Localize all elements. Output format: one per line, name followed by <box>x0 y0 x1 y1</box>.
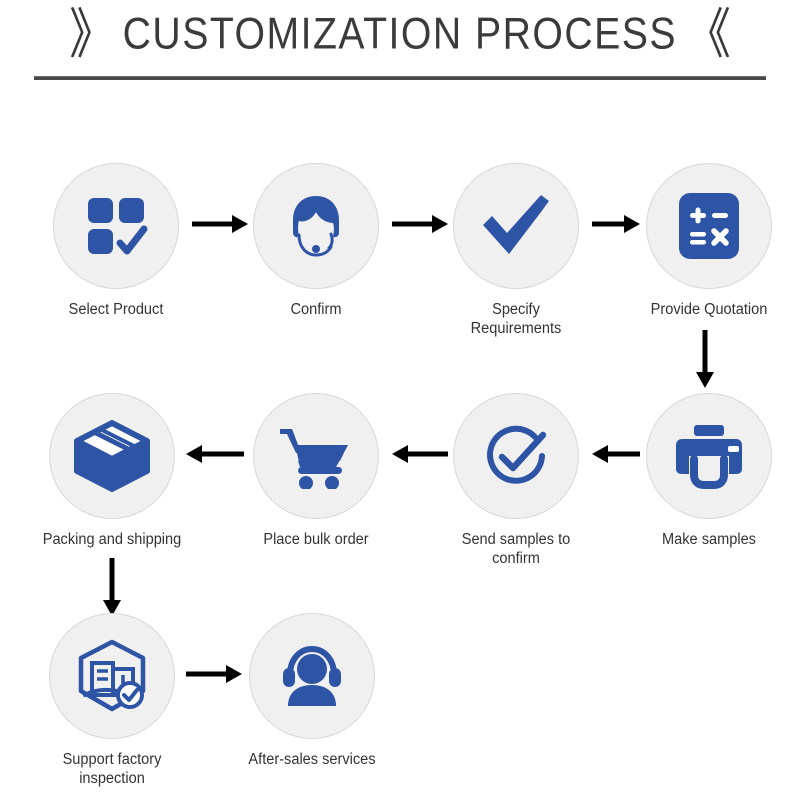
headphones-person-icon <box>276 643 348 709</box>
connector-arrow-right <box>392 212 448 236</box>
checkmark-icon <box>479 192 553 260</box>
title-row: 》CUSTOMIZATION PROCESS《 <box>0 8 800 60</box>
step-icon-circle <box>249 613 375 739</box>
connector-arrow-left <box>592 442 640 466</box>
step-node-send-samples-to-confirm[interactable]: Send samples to confirm <box>441 393 591 568</box>
step-label: Make samples <box>639 530 780 549</box>
step-icon-circle <box>646 393 772 519</box>
step-node-support-factory-inspection[interactable]: Support factory inspection <box>37 613 187 788</box>
connector-arrow-left <box>392 442 448 466</box>
step-node-specify-requirements[interactable]: Specify Requirements <box>441 163 591 338</box>
step-node-provide-quotation[interactable]: Provide Quotation <box>634 163 784 319</box>
connector-arrow-down <box>693 330 717 388</box>
step-icon-circle <box>453 163 579 289</box>
step-icon-circle <box>253 163 379 289</box>
connector-arrow-right <box>192 212 248 236</box>
step-node-select-product[interactable]: Select Product <box>41 163 191 319</box>
headset-agent-icon <box>280 190 352 262</box>
step-icon-circle <box>453 393 579 519</box>
step-icon-circle <box>646 163 772 289</box>
step-label: Place bulk order <box>246 530 387 549</box>
connector-arrow-left <box>186 442 244 466</box>
package-box-icon <box>74 420 150 492</box>
page-title: CUSTOMIZATION PROCESS <box>123 5 677 63</box>
step-icon-circle <box>49 393 175 519</box>
check-circle-icon <box>480 420 552 492</box>
step-node-confirm[interactable]: Confirm <box>241 163 391 319</box>
chevron-right-icon: 《 <box>685 3 731 64</box>
connector-arrow-right <box>592 212 640 236</box>
page-header: 》CUSTOMIZATION PROCESS《 <box>0 0 800 90</box>
step-label: Select Product <box>46 300 187 319</box>
grid-check-icon <box>82 192 150 260</box>
step-icon-circle <box>253 393 379 519</box>
step-icon-circle <box>53 163 179 289</box>
connector-arrow-right <box>186 662 242 686</box>
factory-shield-check-icon <box>75 639 149 713</box>
step-node-place-bulk-order[interactable]: Place bulk order <box>241 393 391 549</box>
chevron-left-icon: 》 <box>69 3 115 64</box>
step-label: Send samples to confirm <box>446 530 587 568</box>
step-label: Specify Requirements <box>446 300 587 338</box>
step-label: Provide Quotation <box>639 300 780 319</box>
calculator-icon <box>677 191 741 261</box>
shopping-cart-icon <box>278 423 354 489</box>
printer-icon <box>672 423 746 489</box>
step-label: Packing and shipping <box>42 530 183 549</box>
step-node-make-samples[interactable]: Make samples <box>634 393 784 549</box>
title-divider <box>34 76 766 80</box>
step-label: After-sales services <box>242 750 383 769</box>
step-icon-circle <box>49 613 175 739</box>
step-label: Confirm <box>246 300 387 319</box>
step-node-packing-and-shipping[interactable]: Packing and shipping <box>37 393 187 549</box>
step-node-after-sales-services[interactable]: After-sales services <box>237 613 387 769</box>
connector-arrow-down <box>100 558 124 616</box>
step-label: Support factory inspection <box>42 750 183 788</box>
